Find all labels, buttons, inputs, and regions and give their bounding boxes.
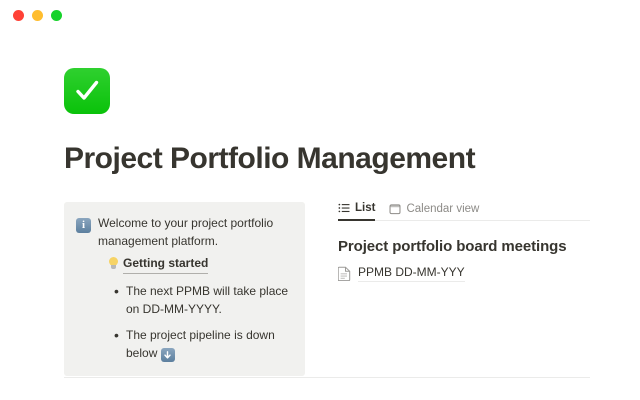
calendar-icon xyxy=(389,203,401,215)
left-column: i Welcome to your project portfolio mana… xyxy=(64,202,305,377)
down-arrow-emoji xyxy=(161,345,175,360)
list-item[interactable]: PPMB DD-MM-YYY xyxy=(338,265,590,282)
minimize-window-button[interactable] xyxy=(32,10,43,21)
tab-calendar-label: Calendar view xyxy=(406,203,479,215)
tab-list[interactable]: List xyxy=(338,202,375,221)
window-title-bar xyxy=(0,0,640,30)
light-bulb-emoji xyxy=(109,254,118,274)
information-emoji: i xyxy=(76,214,91,233)
getting-started-line[interactable]: Getting started xyxy=(98,254,291,274)
down-arrow-icon-square xyxy=(161,348,175,362)
getting-started-link[interactable]: Getting started xyxy=(123,254,208,274)
bullet-text-0: The next PPMB will take place on DD-MM-Y… xyxy=(126,284,288,316)
list-item: The project pipeline is down below xyxy=(114,326,291,363)
content-columns: i Welcome to your project portfolio mana… xyxy=(64,202,590,377)
page-content: Project Portfolio Management i Welcome t… xyxy=(0,68,640,376)
page-bottom-divider xyxy=(64,377,590,378)
light-bulb-icon-shape xyxy=(109,257,118,269)
maximize-window-button[interactable] xyxy=(51,10,62,21)
tab-list-label: List xyxy=(355,202,375,214)
list-icon xyxy=(338,202,350,214)
page-title: Project Portfolio Management xyxy=(64,142,590,177)
callout-block[interactable]: i Welcome to your project portfolio mana… xyxy=(64,202,305,377)
information-icon-square: i xyxy=(76,218,91,233)
bullet-text-1: The project pipeline is down below xyxy=(126,328,275,360)
tab-calendar-view[interactable]: Calendar view xyxy=(389,203,479,220)
view-heading: Project portfolio board meetings xyxy=(338,238,590,255)
right-column: List Calendar view Project portfolio boa… xyxy=(305,202,590,282)
list-item: The next PPMB will take place on DD-MM-Y… xyxy=(114,282,291,318)
callout-bullet-list: The next PPMB will take place on DD-MM-Y… xyxy=(98,282,291,363)
record-title[interactable]: PPMB DD-MM-YYY xyxy=(358,265,465,282)
white-check-mark-emoji xyxy=(64,68,110,114)
page-icon[interactable] xyxy=(64,68,590,120)
document-icon xyxy=(338,266,351,281)
view-tab-bar: List Calendar view xyxy=(338,202,590,221)
callout-welcome-text: Welcome to your project portfolio manage… xyxy=(98,214,291,250)
close-window-button[interactable] xyxy=(13,10,24,21)
callout-body: Welcome to your project portfolio manage… xyxy=(98,214,291,363)
